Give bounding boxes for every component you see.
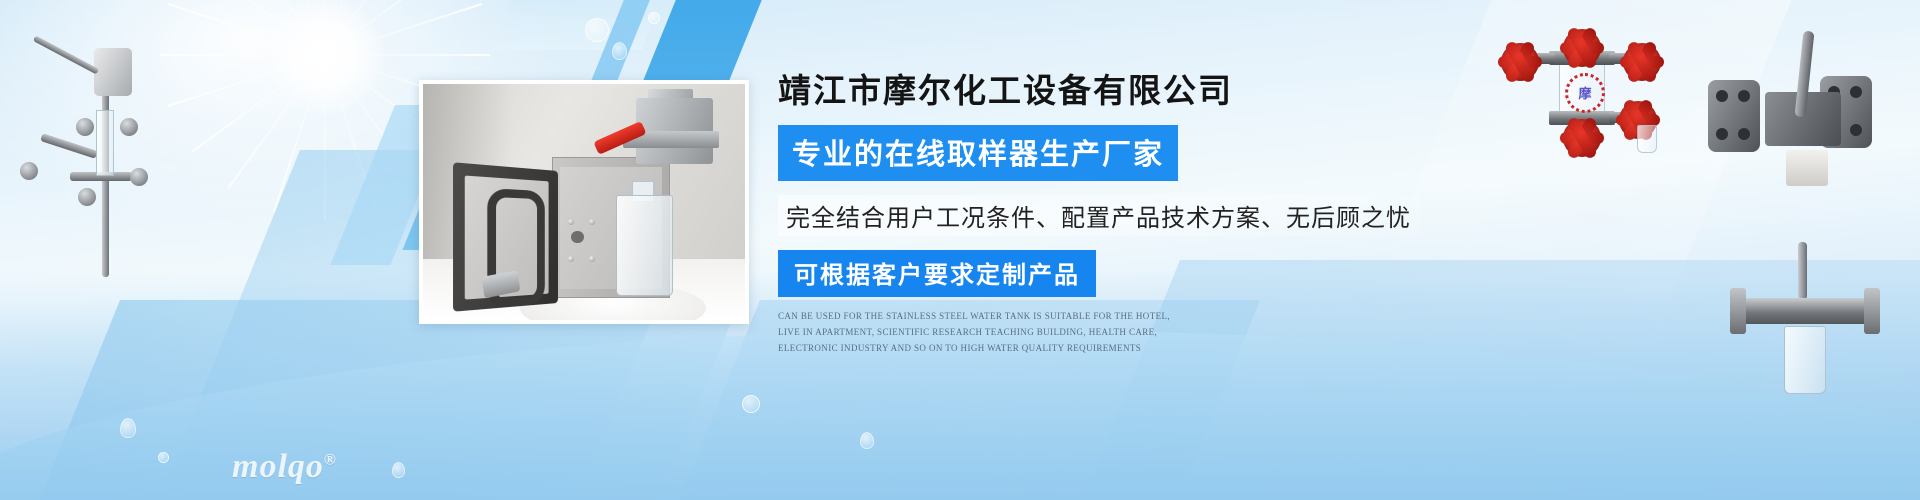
product-render-left-rig [10, 22, 190, 282]
valve-outlet-cap [1786, 150, 1828, 186]
red-handwheel-icon [1501, 43, 1539, 81]
product-photo [419, 80, 749, 324]
red-handwheel-icon [1623, 43, 1661, 81]
valve-flange-left [1730, 288, 1746, 334]
cabinet-port-hole [571, 231, 584, 244]
rig-knob [78, 188, 96, 206]
custom-product-badge: 可根据客户要求定制产品 [778, 250, 1096, 297]
sample-jar [1784, 326, 1826, 394]
sample-jar [1637, 125, 1657, 153]
secondary-slogan: 完全结合用户工况条件、配置产品技术方案、无后顾之忧 [778, 195, 1419, 236]
bubble-icon [585, 18, 609, 42]
rig-sight-glass [96, 110, 114, 176]
water-drop-icon [392, 462, 405, 478]
product-photo-image [423, 84, 745, 320]
product-render-inline-valve [1730, 240, 1880, 400]
rig-knob [20, 162, 38, 180]
rig-knob [120, 118, 138, 136]
red-handwheel-icon [1563, 119, 1601, 157]
watermark-text: molqo [232, 448, 324, 485]
valve-stem [1798, 242, 1807, 300]
valve-body-horizontal [1734, 298, 1874, 324]
company-name: 靖江市摩尔化工设备有限公司 [778, 72, 1418, 113]
rig-housing [94, 48, 132, 96]
rig-knob [76, 118, 94, 136]
product-render-cross-valve: 摩 [1497, 33, 1667, 143]
promo-banner: 靖江市摩尔化工设备有限公司 专业的在线取样器生产厂家 完全结合用户工况条件、配置… [0, 0, 1920, 500]
rig-arm [40, 133, 98, 159]
rig-arm [33, 35, 99, 74]
rig-knob [130, 168, 148, 186]
red-handwheel-icon [1563, 29, 1601, 67]
valve-flange-left [1708, 80, 1760, 152]
english-description: CAN BE USED FOR THE STAINLESS STEEL WATE… [778, 309, 1173, 356]
cabinet-door [453, 163, 558, 313]
sample-bottle [616, 195, 673, 296]
product-render-lever-valve [1700, 28, 1890, 188]
bubble-icon [158, 452, 169, 463]
primary-slogan-badge: 专业的在线取样器生产厂家 [778, 125, 1178, 181]
bubble-icon [648, 12, 660, 24]
bubble-icon [742, 395, 760, 413]
banner-copy: 靖江市摩尔化工设备有限公司 专业的在线取样器生产厂家 完全结合用户工况条件、配置… [778, 72, 1418, 357]
water-drop-icon [612, 42, 627, 60]
seal-character: 摩 [1568, 83, 1602, 102]
registered-trademark-icon: ® [324, 452, 337, 469]
water-drop-icon [120, 418, 136, 438]
company-seal-logo: 摩 [1565, 73, 1605, 113]
water-drop-icon [860, 432, 874, 449]
watermark-logo: molqo® [232, 448, 337, 486]
valve-flange-right [1864, 288, 1880, 334]
